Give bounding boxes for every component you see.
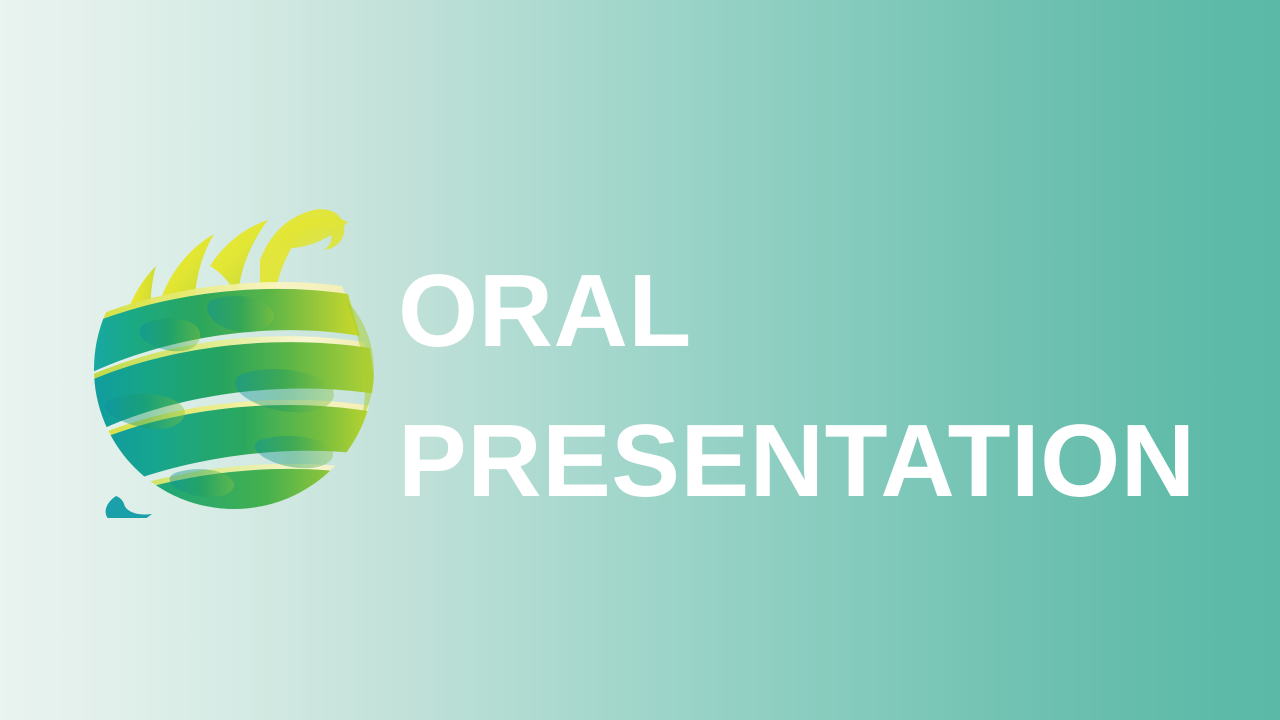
globe-ribbon-logo	[92, 204, 376, 518]
slide-title: ORAL PRESENTATION	[398, 236, 1198, 536]
slide-canvas: ORAL PRESENTATION	[0, 0, 1280, 720]
globe-body	[92, 282, 376, 518]
title-line-1: ORAL	[398, 236, 1198, 386]
title-line-2: PRESENTATION	[398, 386, 1198, 536]
